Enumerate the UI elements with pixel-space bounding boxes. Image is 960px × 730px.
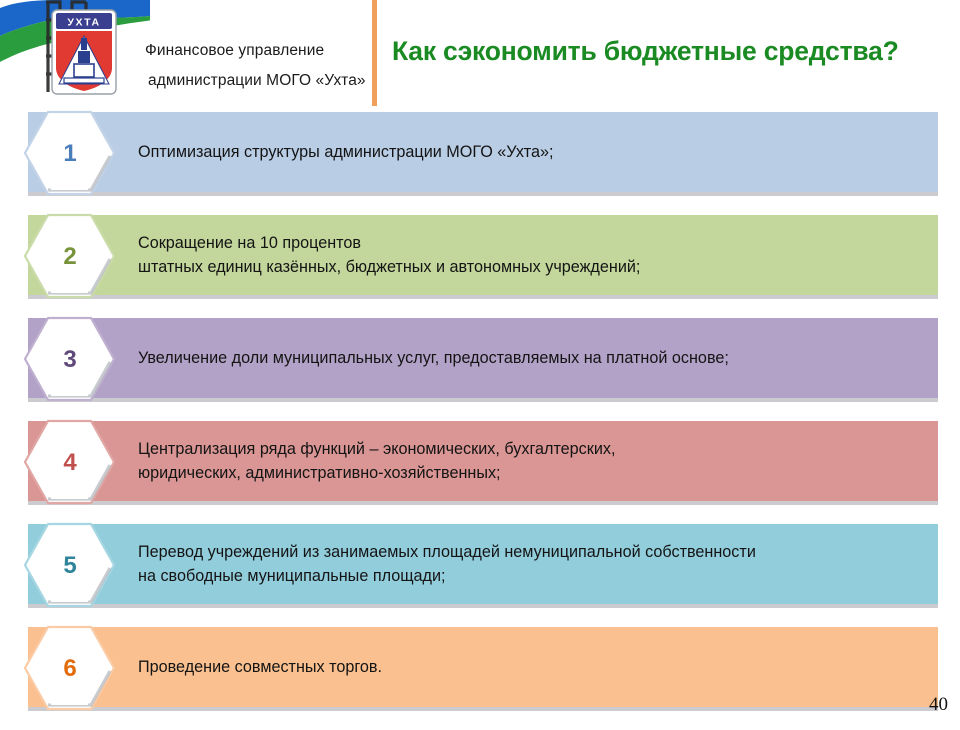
step-row: Оптимизация структуры администрации МОГО… xyxy=(0,112,960,197)
step-text-line: штатных единиц казённых, бюджетных и авт… xyxy=(138,255,928,279)
ukhta-coat-of-arms: УХТА xyxy=(52,10,116,94)
step-number: 2 xyxy=(22,212,117,300)
step-row: Увеличение доли муниципальных услуг, пре… xyxy=(0,318,960,403)
step-hexagon: 3 xyxy=(22,315,117,403)
emblem-label-text: УХТА xyxy=(67,17,100,29)
step-text-line: на свободные муниципальные площади; xyxy=(138,564,928,588)
step-text-line: Оптимизация структуры администрации МОГО… xyxy=(138,140,928,164)
step-row: Проведение совместных торгов.6 xyxy=(0,627,960,712)
step-text: Проведение совместных торгов. xyxy=(138,627,928,707)
step-text-line: Перевод учреждений из занимаемых площаде… xyxy=(138,540,928,564)
organization-name: Финансовое управление администрации МОГО… xyxy=(145,36,366,96)
step-row: Сокращение на 10 процентовштатных единиц… xyxy=(0,215,960,300)
step-hexagon: 4 xyxy=(22,418,117,506)
step-number: 4 xyxy=(22,418,117,506)
step-row: Перевод учреждений из занимаемых площаде… xyxy=(0,524,960,609)
step-hexagon: 2 xyxy=(22,212,117,300)
step-text-line: Сокращение на 10 процентов xyxy=(138,231,928,255)
komi-flag-graphic: УХТА xyxy=(0,0,150,112)
step-text-line: Увеличение доли муниципальных услуг, пре… xyxy=(138,346,928,370)
step-number: 1 xyxy=(22,109,117,197)
step-text-line: Централизация ряда функций – экономическ… xyxy=(138,437,928,461)
steps-list: Оптимизация структуры администрации МОГО… xyxy=(0,112,960,730)
step-text: Перевод учреждений из занимаемых площаде… xyxy=(138,524,928,604)
step-number: 6 xyxy=(22,624,117,712)
header-divider xyxy=(372,0,377,106)
step-text-line: Проведение совместных торгов. xyxy=(138,655,928,679)
step-hexagon: 5 xyxy=(22,521,117,609)
slide-header: УХТА Финансовое управление администрации… xyxy=(0,0,960,108)
step-hexagon: 1 xyxy=(22,109,117,197)
step-hexagon: 6 xyxy=(22,624,117,712)
step-number: 3 xyxy=(22,315,117,403)
step-text-line: юридических, административно-хозяйственн… xyxy=(138,461,928,485)
emblem-and-flag: УХТА xyxy=(0,0,150,112)
page-number: 40 xyxy=(929,694,948,716)
step-text: Увеличение доли муниципальных услуг, пре… xyxy=(138,318,928,398)
org-line-2: администрации МОГО «Ухта» xyxy=(145,66,366,96)
slide-title: Как сэкономить бюджетные средства? xyxy=(392,36,899,67)
step-row: Централизация ряда функций – экономическ… xyxy=(0,421,960,506)
step-text: Централизация ряда функций – экономическ… xyxy=(138,421,928,501)
step-text: Сокращение на 10 процентовштатных единиц… xyxy=(138,215,928,295)
step-number: 5 xyxy=(22,521,117,609)
step-text: Оптимизация структуры администрации МОГО… xyxy=(138,112,928,192)
org-line-1: Финансовое управление xyxy=(145,36,366,66)
